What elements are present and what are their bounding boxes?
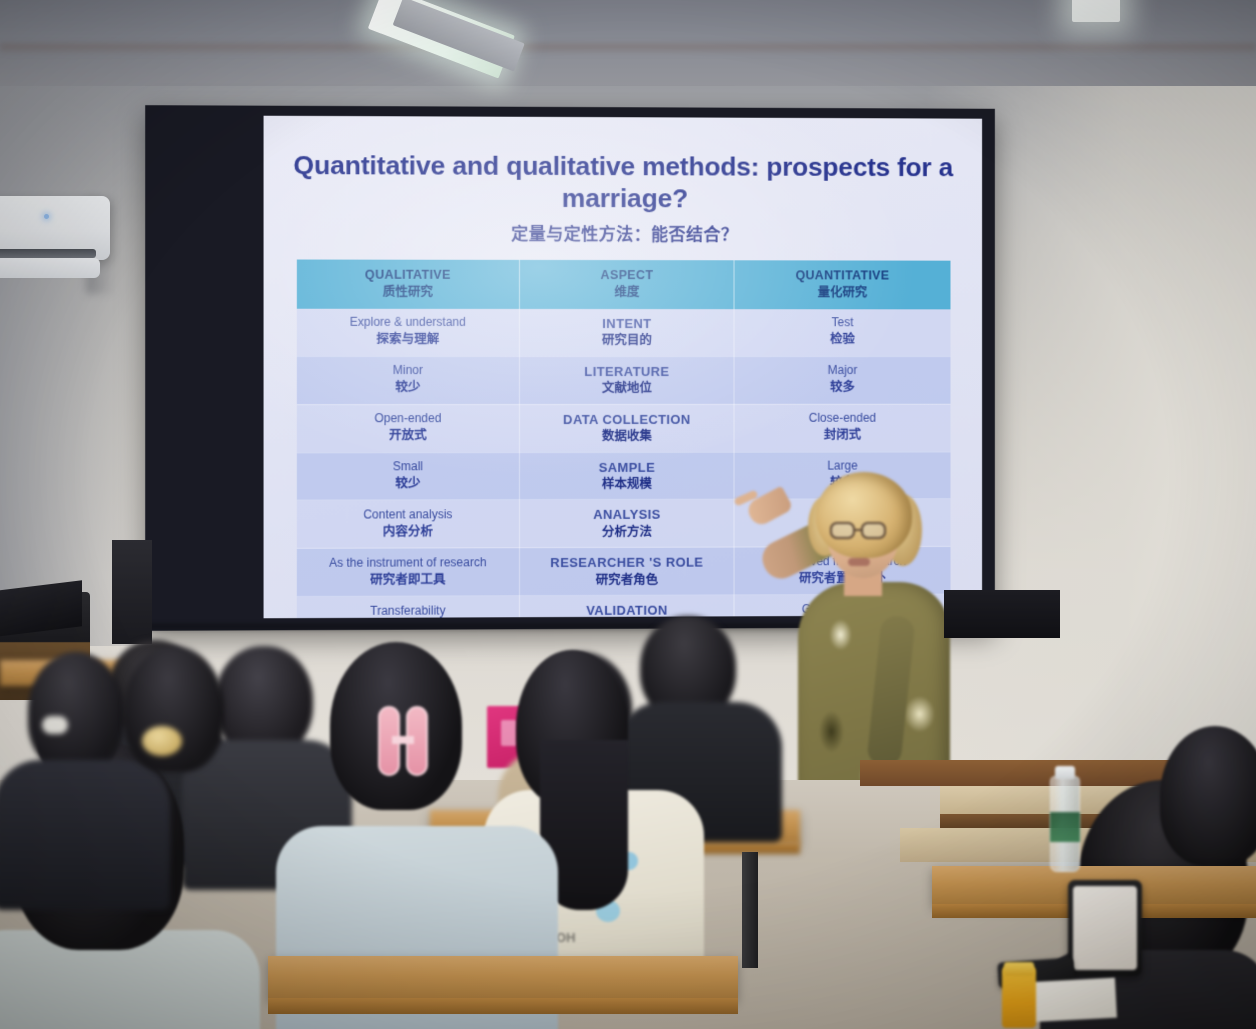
slide-title: Quantitative and qualitative methods: pr… — [290, 150, 957, 215]
table-row: Explore & understand 探索与理解 INTENT 研究目的 T… — [296, 309, 950, 357]
cell-text-en: Explore & understand — [350, 315, 466, 329]
table-header-row: QUALITATIVE 质性研究 ASPECT 维度 QUANTITATIVE … — [296, 260, 950, 310]
cell-aspect: LITERATURE 文献地位 — [519, 356, 734, 404]
tablet-screen[interactable] — [1073, 886, 1137, 970]
header-aspect: ASPECT 维度 — [519, 260, 734, 309]
lecturer-mouth — [848, 558, 870, 566]
cell-qualitative: Transferability 可迁移性 — [296, 596, 519, 618]
cell-text-en: SAMPLE — [599, 459, 655, 474]
desk-front-center — [268, 956, 738, 1000]
water-bottle-label — [1050, 812, 1080, 842]
student-head — [124, 646, 224, 772]
cell-quantitative: Test 检验 — [734, 309, 950, 356]
cell-text-cn: 较少 — [300, 379, 515, 396]
cell-text-en: As the instrument of research — [329, 555, 487, 570]
air-conditioner-lip — [0, 258, 100, 278]
classroom-photo: Quantitative and qualitative methods: pr… — [0, 0, 1256, 1029]
cell-text-en: Open-ended — [374, 411, 441, 425]
header-qualitative-cn: 质性研究 — [300, 284, 515, 301]
water-bottle-cap — [1055, 766, 1075, 779]
cell-text-en: Transferability — [370, 603, 445, 617]
cell-aspect: VALIDATION 验证 — [519, 595, 734, 618]
cell-text-cn: 封闭式 — [738, 427, 946, 444]
air-conditioner-led-icon — [44, 214, 49, 219]
cell-qualitative: Open-ended 开放式 — [296, 404, 519, 452]
cell-text-en: Close-ended — [809, 411, 876, 425]
cell-quantitative: Close-ended 封闭式 — [734, 404, 950, 452]
paper-sheet — [1025, 978, 1117, 1023]
cell-text-cn: 研究目的 — [524, 332, 730, 349]
cell-text-en: LITERATURE — [584, 364, 669, 379]
cell-text-cn: 较多 — [738, 379, 946, 396]
table-row: Open-ended 开放式 DATA COLLECTION 数据收集 Clos… — [296, 404, 950, 453]
cell-text-cn: 样本规模 — [524, 476, 730, 493]
header-qualitative-en: QUALITATIVE — [365, 268, 451, 282]
lecturer-glasses-left-lens-icon — [830, 522, 855, 539]
hair-tie-icon — [42, 716, 68, 734]
cell-aspect: RESEARCHER 'S ROLE 研究者角色 — [519, 547, 734, 596]
juice-bottle-cap — [1004, 962, 1034, 976]
desk-leg — [742, 852, 758, 968]
shirt-print-text: OH — [556, 930, 590, 950]
cell-qualitative: Minor 较少 — [296, 356, 519, 404]
header-quantitative: QUANTITATIVE 量化研究 — [734, 260, 950, 309]
header-quantitative-cn: 量化研究 — [738, 284, 946, 301]
cell-text-en: DATA COLLECTION — [563, 412, 691, 427]
slide-subtitle: 定量与定性方法：能否结合？ — [290, 219, 957, 245]
lecturer-glasses-right-lens-icon — [861, 522, 886, 539]
ceiling-seam — [0, 44, 1256, 54]
cell-quantitative: Major 较多 — [734, 356, 950, 404]
cell-text-cn: 较少 — [300, 475, 515, 492]
lecturer-glasses-bridge-icon — [854, 529, 862, 531]
desk-front-center-edge — [268, 998, 738, 1014]
header-aspect-en: ASPECT — [601, 268, 654, 282]
student-head — [1160, 726, 1256, 866]
cell-text-cn: 文献地位 — [524, 380, 730, 397]
cell-text-en: Minor — [393, 363, 423, 377]
cell-text-cn: 开放式 — [300, 427, 515, 444]
cell-text-en: Small — [393, 459, 423, 473]
cell-text-cn: 研究者即工具 — [300, 571, 515, 588]
cell-text-cn: 内容分析 — [300, 523, 515, 540]
cell-qualitative: Small 较少 — [296, 452, 519, 500]
cell-qualitative: As the instrument of research 研究者即工具 — [296, 548, 519, 597]
air-conditioner-vent — [0, 249, 96, 258]
cell-text-en: Test — [832, 316, 854, 330]
cell-text-en: VALIDATION — [586, 603, 667, 618]
cell-text-en: INTENT — [602, 316, 651, 331]
cell-aspect: SAMPLE 样本规模 — [519, 452, 734, 500]
cell-aspect: ANALYSIS 分析方法 — [519, 500, 734, 548]
cell-text-en: Content analysis — [363, 507, 452, 521]
wall-mounted-board — [944, 590, 1060, 638]
cell-text-cn: 数据收集 — [524, 428, 730, 445]
hair-clip-bridge-icon — [392, 736, 414, 744]
ceiling-light-right — [1072, 0, 1120, 22]
header-aspect-cn: 维度 — [524, 284, 730, 301]
cell-text-en: ANALYSIS — [593, 507, 661, 522]
header-quantitative-en: QUANTITATIVE — [795, 268, 889, 282]
table-row: Minor 较少 LITERATURE 文献地位 Major 较多 — [296, 356, 950, 404]
cell-aspect: INTENT 研究目的 — [519, 309, 734, 356]
cell-aspect: DATA COLLECTION 数据收集 — [519, 404, 734, 452]
pink-notebook-mark — [501, 720, 517, 746]
lecturer-hair — [816, 472, 912, 558]
cell-text-en: Major — [828, 363, 858, 377]
cell-text-cn: 分析方法 — [524, 523, 730, 540]
wall-dark-panel — [112, 540, 152, 644]
cell-text-cn: 探索与理解 — [300, 331, 515, 348]
cell-qualitative: Explore & understand 探索与理解 — [296, 309, 519, 357]
cell-text-en: RESEARCHER 'S ROLE — [550, 555, 703, 570]
scrunchie-icon — [142, 726, 182, 756]
cell-text-cn: 研究者角色 — [524, 571, 730, 588]
cell-text-cn: 检验 — [738, 332, 946, 349]
cell-qualitative: Content analysis 内容分析 — [296, 500, 519, 549]
student-shoulders — [0, 760, 170, 910]
student-head — [28, 652, 124, 770]
header-qualitative: QUALITATIVE 质性研究 — [296, 260, 519, 309]
